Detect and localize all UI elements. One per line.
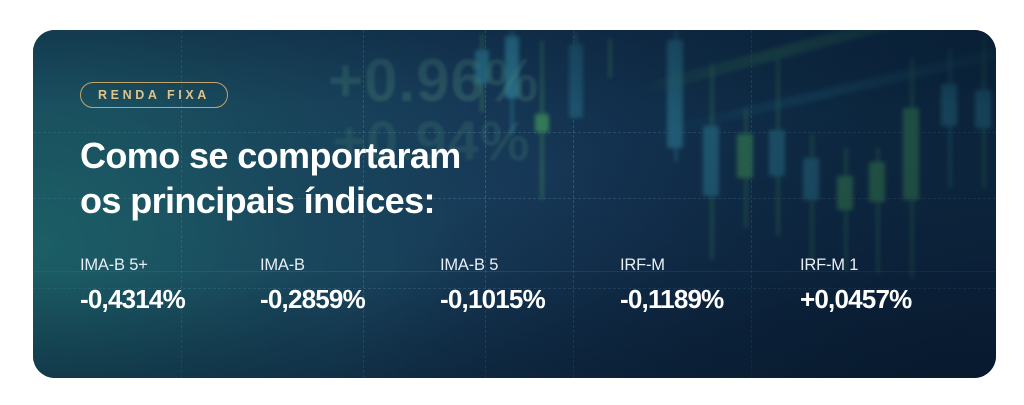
index-metrics-row: IMA-B 5+ -0,4314% IMA-B -0,2859% IMA-B 5…	[80, 256, 976, 315]
title-line-2: os principais índices:	[80, 178, 461, 223]
metric-label: IRF-M 1	[800, 256, 980, 275]
renda-fixa-card: +0.96% +0.94% RENDA FIXA Como se comport…	[33, 30, 996, 378]
metric-label: IRF-M	[620, 256, 800, 275]
title-line-1: Como se comportaram	[80, 133, 461, 178]
metric-label: IMA-B 5+	[80, 256, 260, 275]
metric-ima-b-5: IMA-B 5 -0,1015%	[440, 256, 620, 315]
metric-irf-m: IRF-M -0,1189%	[620, 256, 800, 315]
page-root: +0.96% +0.94% RENDA FIXA Como se comport…	[0, 0, 1024, 405]
metric-value: -0,1015%	[440, 284, 620, 315]
metric-value: -0,4314%	[80, 284, 260, 315]
metric-label: IMA-B 5	[440, 256, 620, 275]
metric-value: -0,1189%	[620, 284, 800, 315]
metric-ima-b-5-mais: IMA-B 5+ -0,4314%	[80, 256, 260, 315]
category-badge-label: RENDA FIXA	[98, 88, 210, 102]
metric-label: IMA-B	[260, 256, 440, 275]
category-badge: RENDA FIXA	[80, 82, 228, 108]
metric-ima-b: IMA-B -0,2859%	[260, 256, 440, 315]
metric-irf-m-1: IRF-M 1 +0,0457%	[800, 256, 980, 315]
metric-value: -0,2859%	[260, 284, 440, 315]
page-title: Como se comportaram os principais índice…	[80, 133, 461, 223]
card-content: RENDA FIXA Como se comportaram os princi…	[33, 30, 996, 378]
metric-value: +0,0457%	[800, 284, 980, 315]
